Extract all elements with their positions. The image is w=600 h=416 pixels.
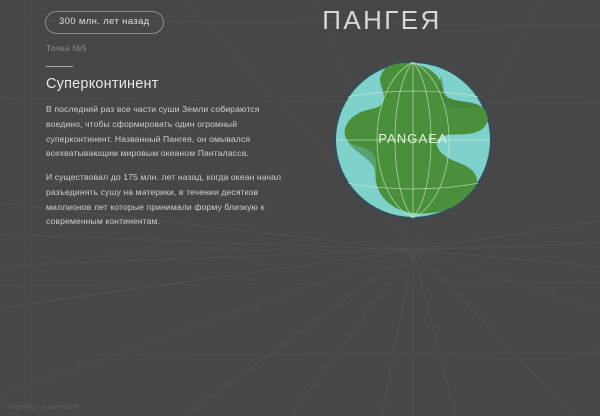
body-paragraph-2: И существовал до 175 млн. лет назад, ког…: [46, 170, 284, 229]
era-badge[interactable]: 300 млн. лет назад: [45, 11, 164, 34]
pangaea-globe-illustration: PANGAEA: [333, 60, 493, 220]
point-number-label: Точка №5: [46, 43, 87, 53]
title-divider-rule: [46, 66, 73, 67]
section-title: Суперконтинент: [46, 77, 284, 93]
left-rail-divider: [30, 0, 31, 416]
body-paragraph-1: В последний раз все части суши Земли соб…: [46, 102, 284, 161]
slide-canvas: 300 млн. лет назад Точка №5 Суперконтине…: [0, 0, 600, 416]
translation-credit: Перевод vk.com/bxvk: [7, 404, 79, 411]
globe-label-pangaea: PANGAEA: [378, 131, 448, 146]
page-title: ПАНГЕЯ: [272, 6, 492, 35]
text-column: Суперконтинент В последний раз все части…: [46, 66, 284, 229]
